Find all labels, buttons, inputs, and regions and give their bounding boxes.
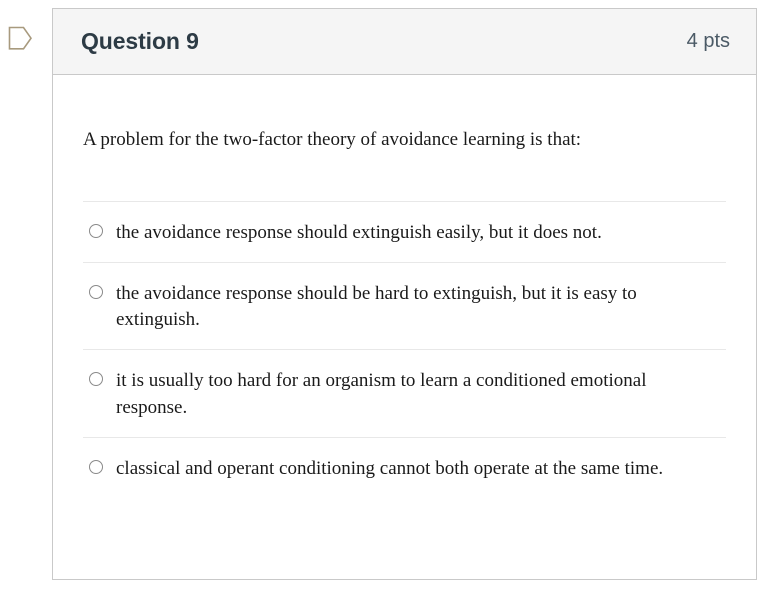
answer-option-4[interactable]: classical and operant conditioning canno… [83,437,726,498]
answer-option-2[interactable]: the avoidance response should be hard to… [83,262,726,349]
answer-option-3[interactable]: it is usually too hard for an organism t… [83,349,726,436]
answer-option-label: it is usually too hard for an organism t… [116,368,711,420]
answer-option-label: the avoidance response should be hard to… [116,281,711,333]
question-card: Question 9 4 pts A problem for the two-f… [52,8,757,580]
question-body: A problem for the two-factor theory of a… [53,75,756,498]
question-points-badge: 4 pts [687,30,730,53]
answer-option-label: classical and operant conditioning canno… [116,456,663,482]
answer-option-label: the avoidance response should extinguish… [116,220,602,246]
question-prompt-text: A problem for the two-factor theory of a… [83,75,726,153]
answer-options-list: the avoidance response should extinguish… [83,201,726,498]
question-title: Question 9 [81,28,199,55]
radio-button-icon[interactable] [89,460,103,474]
radio-button-icon[interactable] [89,372,103,386]
flag-outline-icon [8,26,33,51]
question-header: Question 9 4 pts [53,9,756,75]
answer-option-1[interactable]: the avoidance response should extinguish… [83,201,726,262]
radio-button-icon[interactable] [89,224,103,238]
radio-button-icon[interactable] [89,285,103,299]
